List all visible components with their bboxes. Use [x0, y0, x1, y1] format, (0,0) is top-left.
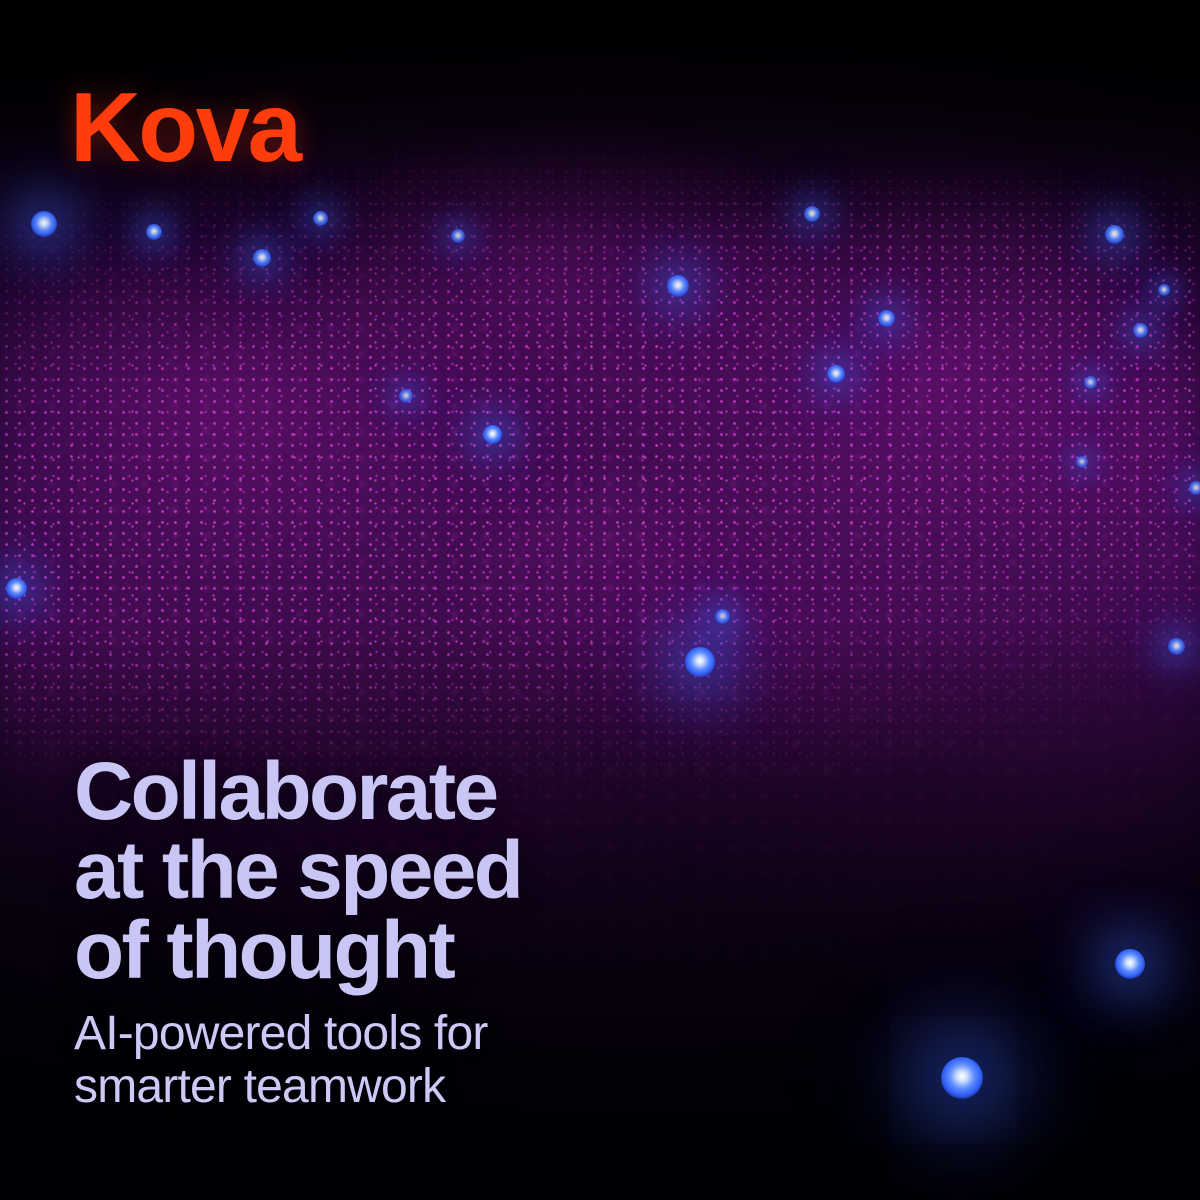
poster-content: Kova Collaborateat the speedof thought A…	[0, 0, 1200, 1200]
headline-line-1: Collaborate	[74, 752, 714, 832]
promo-poster: Kova Collaborateat the speedof thought A…	[0, 0, 1200, 1200]
subhead-line-2: smarter teamwork	[74, 1060, 714, 1114]
headline-line-2: at the speed	[74, 831, 714, 911]
brand-logo[interactable]: Kova	[70, 78, 300, 176]
hero-text-block: Collaborateat the speedof thought AI-pow…	[74, 752, 714, 1114]
headline-line-3: of thought	[74, 911, 714, 991]
hero-headline: Collaborateat the speedof thought	[74, 752, 714, 991]
subhead-line-1: AI-powered tools for	[74, 1007, 714, 1061]
hero-subhead: AI-powered tools forsmarter teamwork	[74, 1007, 714, 1115]
